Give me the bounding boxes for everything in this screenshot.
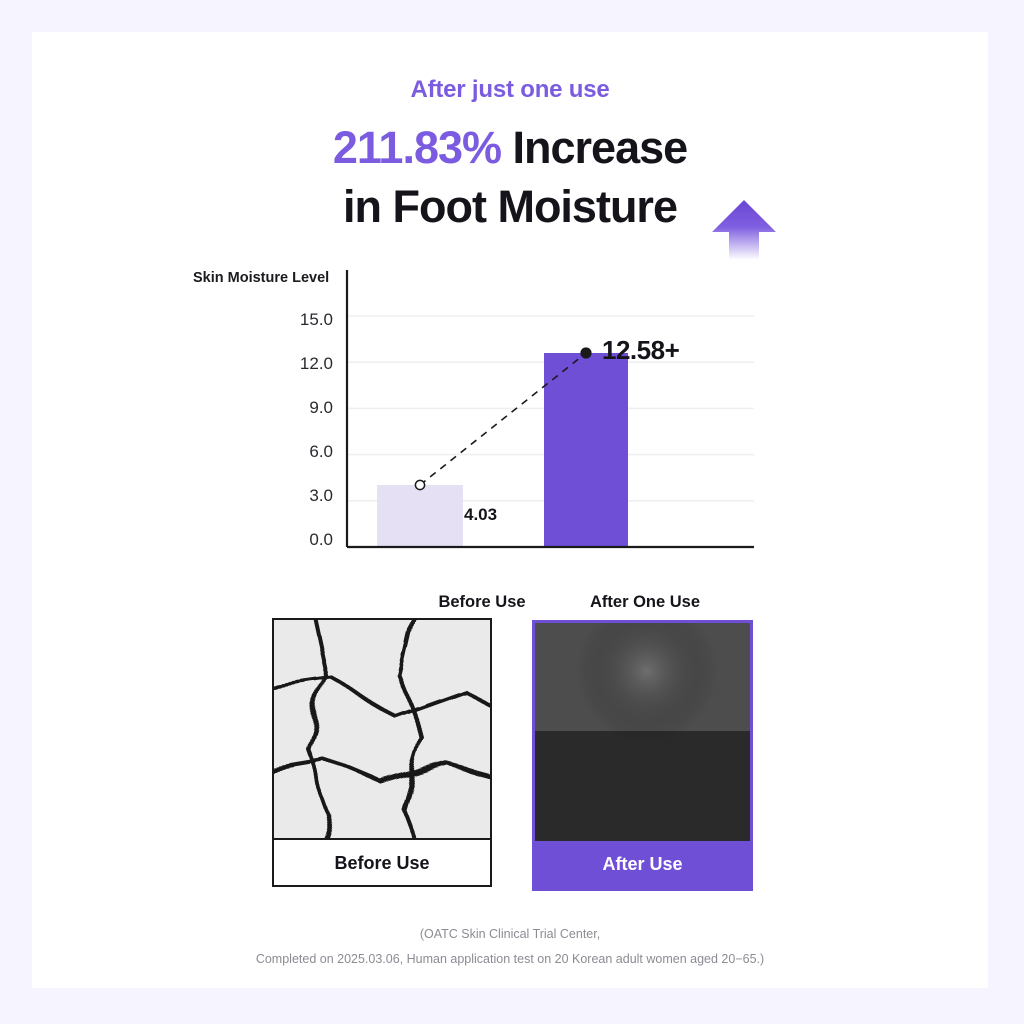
- y-tick-9: 9.0: [273, 398, 333, 418]
- gridlines: [347, 316, 754, 501]
- chart-plot-area: [162, 262, 782, 592]
- bar-before-use: [377, 485, 463, 547]
- y-tick-3: 3.0: [273, 486, 333, 506]
- increase-word: Increase: [501, 122, 687, 173]
- y-tick-12: 12.0: [273, 354, 333, 374]
- page-title: 211.83% Increase in Foot Moisture: [32, 118, 988, 237]
- skin-microscopy-before-image: [274, 620, 490, 838]
- headline-line-1: 211.83% Increase: [333, 118, 687, 177]
- x-label-before-use: Before Use: [402, 593, 562, 612]
- panel-before-caption: Before Use: [274, 838, 490, 885]
- bar-after-one-use: [544, 353, 628, 547]
- marker-after-one-use: [580, 347, 591, 358]
- y-axis-title: Skin Moisture Level: [193, 270, 329, 286]
- increase-percent: 211.83%: [333, 122, 501, 173]
- headline-line-2: in Foot Moisture: [343, 181, 677, 232]
- footnote-line-2: Completed on 2025.03.06, Human applicati…: [32, 952, 988, 966]
- panel-after-caption: After Use: [535, 841, 750, 888]
- y-tick-0: 0.0: [273, 530, 333, 550]
- arrow-up-icon: [711, 198, 777, 262]
- marker-before-use: [415, 480, 424, 489]
- y-tick-6: 6.0: [273, 442, 333, 462]
- y-tick-15: 15.0: [273, 310, 333, 330]
- panel-before-use: Before Use: [272, 618, 492, 887]
- promo-card: After just one use 211.83% Increase in F…: [32, 32, 988, 988]
- eyebrow-text: After just one use: [32, 76, 988, 104]
- panel-after-use: After Use: [532, 620, 753, 891]
- footnote-line-1: (OATC Skin Clinical Trial Center,: [32, 927, 988, 941]
- trend-connector-line: [420, 353, 586, 485]
- skin-microscopy-after-image: [535, 623, 750, 841]
- bar-value-after: 12.58+: [602, 335, 679, 366]
- x-label-after-one-use: After One Use: [565, 593, 725, 612]
- bar-value-before: 4.03: [464, 505, 497, 525]
